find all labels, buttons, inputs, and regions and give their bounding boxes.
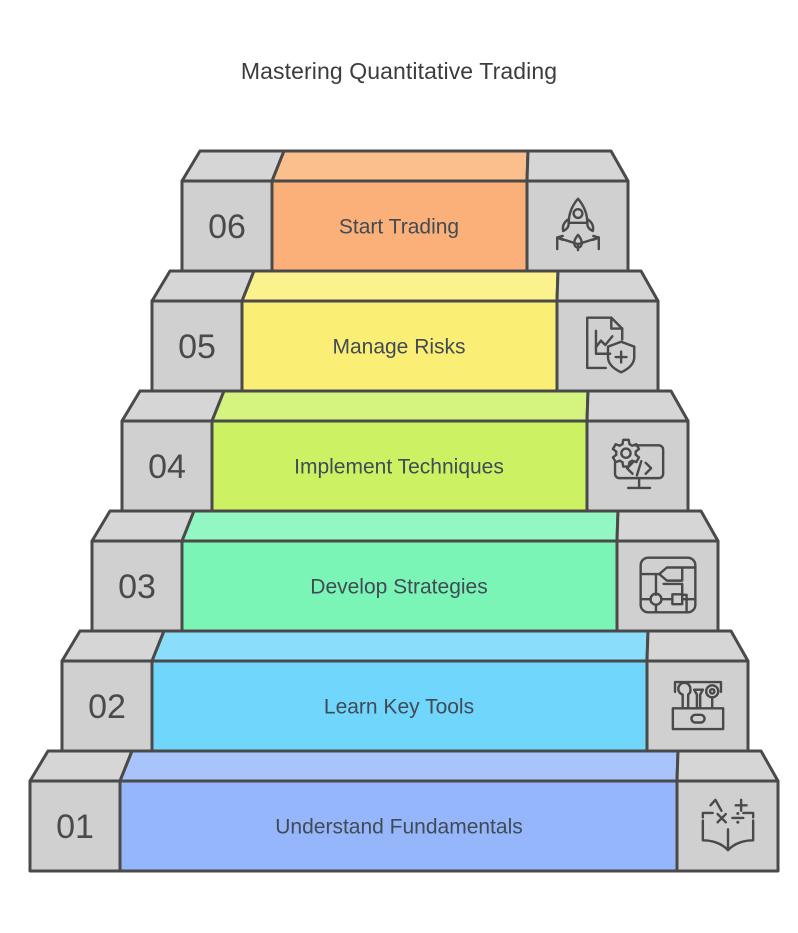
step-04-top-bevel (212, 391, 588, 421)
step-06-number: 06 (208, 208, 246, 246)
step-01-left-bevel (30, 751, 132, 781)
step-05-label: Manage Risks (332, 336, 465, 359)
diagram-root: Mastering Quantitative Trading (0, 0, 798, 933)
step-01-label: Understand Fundamentals (275, 816, 522, 839)
step-06-icon-panel (527, 181, 628, 271)
step-03-icon-panel (617, 541, 718, 631)
step-02-left-bevel (62, 631, 164, 661)
step-01[interactable]: 01 Understand Fundamentals (30, 751, 778, 871)
step-05[interactable]: 05 Manage Risks (152, 271, 658, 391)
step-04-label: Implement Techniques (294, 456, 504, 479)
step-04-right-bevel (587, 391, 688, 421)
step-02-number: 02 (88, 688, 126, 726)
step-05-right-bevel (557, 271, 658, 301)
step-03[interactable]: 03 Develop Strategies (92, 511, 718, 631)
step-01-number: 01 (56, 808, 94, 846)
step-06-right-bevel (527, 151, 628, 181)
step-01-icon-panel (677, 781, 778, 871)
step-03-label: Develop Strategies (310, 576, 487, 599)
step-06[interactable]: 06 Start Trading (182, 151, 628, 271)
step-02-right-bevel (647, 631, 748, 661)
step-03-top-bevel (182, 511, 618, 541)
step-02-label: Learn Key Tools (324, 696, 474, 719)
step-06-label: Start Trading (339, 216, 459, 239)
step-02[interactable]: 02 Learn Key Tools (62, 631, 748, 751)
step-06-top-bevel (272, 151, 528, 181)
step-01-right-bevel (677, 751, 778, 781)
step-02-top-bevel (152, 631, 648, 661)
staircase-pyramid-diagram: 06 Start Trading 05 Manage Risks 04 Impl (0, 0, 798, 933)
step-03-number: 03 (118, 568, 156, 606)
step-04-left-bevel (122, 391, 224, 421)
step-05-top-bevel (242, 271, 558, 301)
step-05-number: 05 (178, 328, 216, 366)
step-04[interactable]: 04 Implement Techniques (122, 391, 688, 511)
step-04-icon-panel (587, 421, 688, 511)
step-04-number: 04 (148, 448, 186, 486)
step-06-left-bevel (182, 151, 284, 181)
step-05-left-bevel (152, 271, 254, 301)
step-03-left-bevel (92, 511, 194, 541)
step-03-right-bevel (617, 511, 718, 541)
step-01-top-bevel (120, 751, 678, 781)
